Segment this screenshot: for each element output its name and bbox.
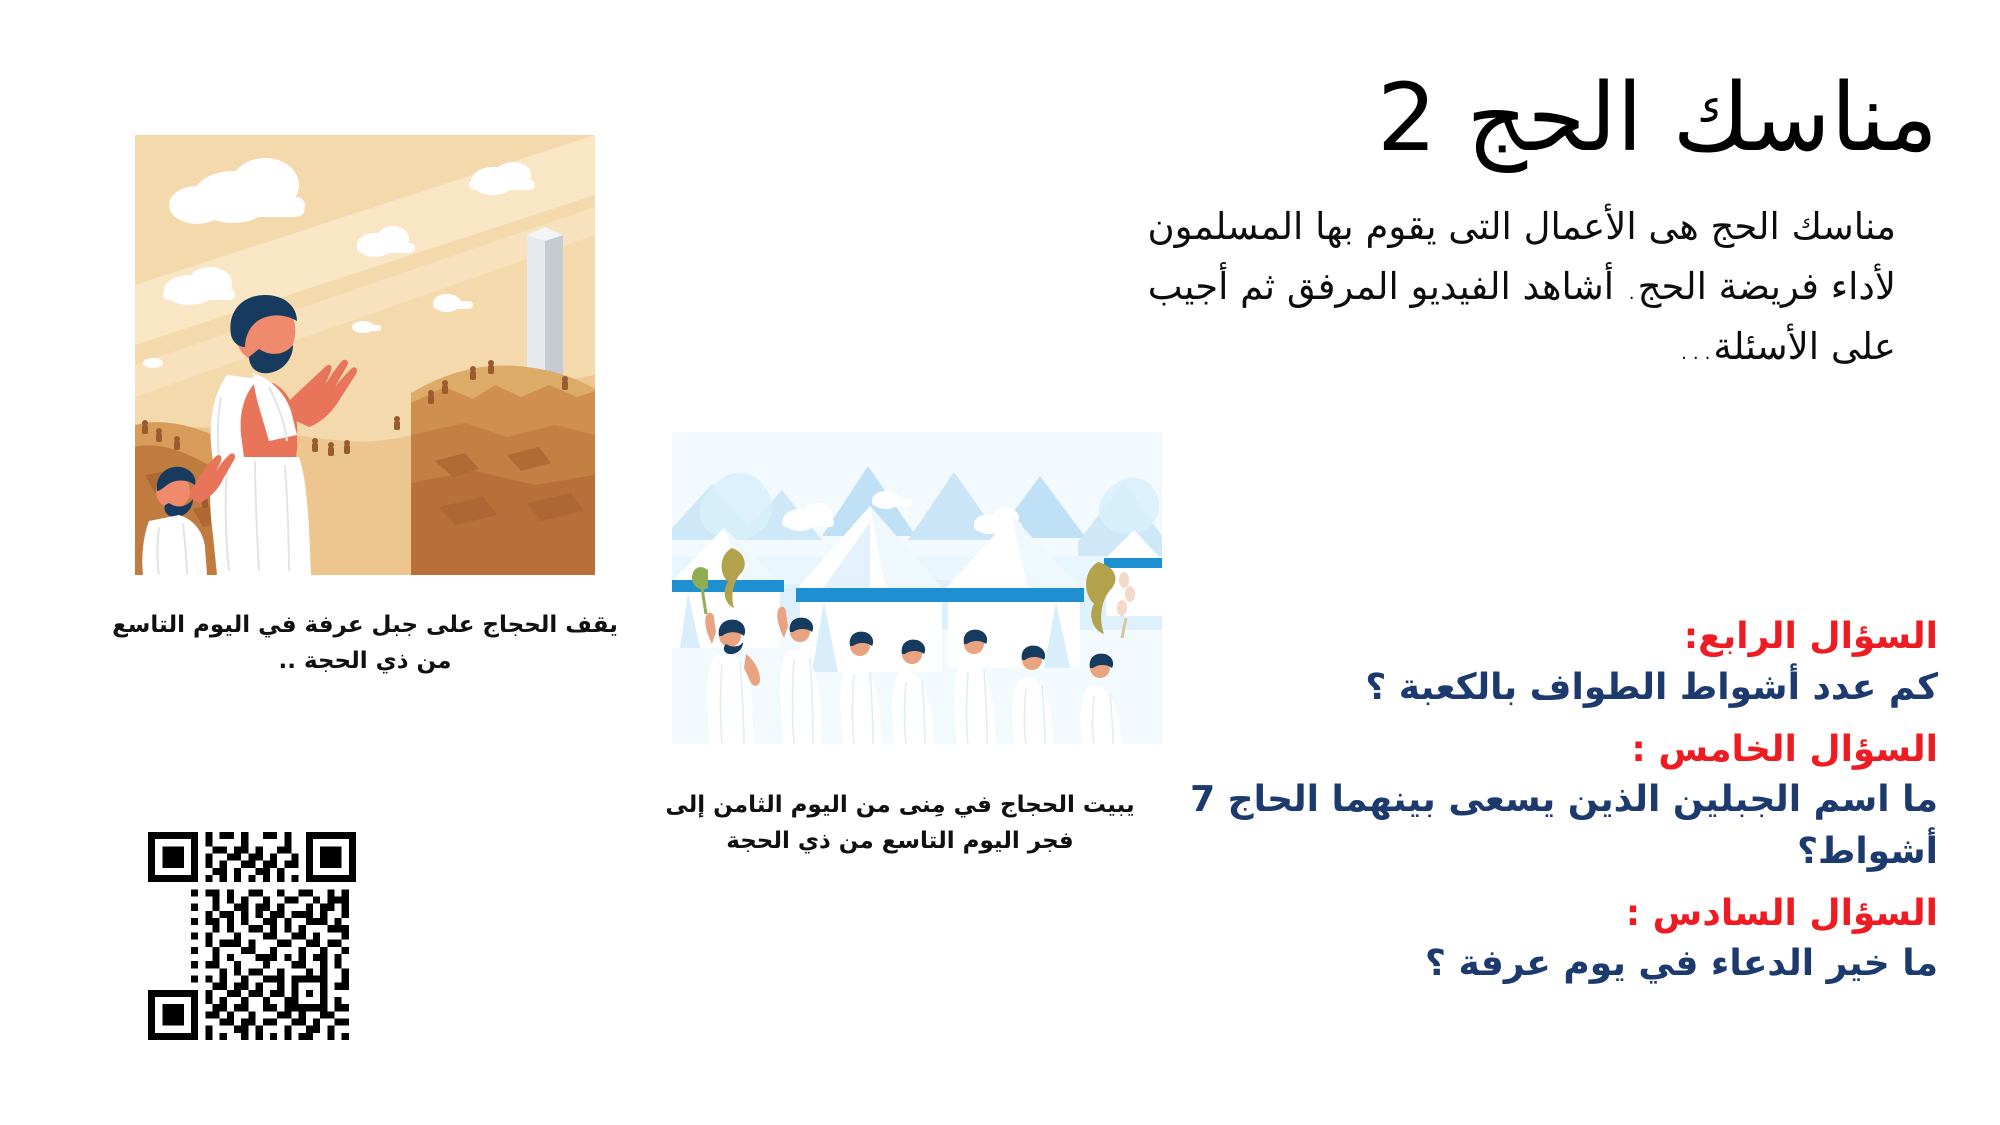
illustration-mina bbox=[672, 432, 1162, 744]
mina-scene-svg bbox=[672, 432, 1162, 744]
caption-arafat: يقف الحجاج على جبل عرفة في اليوم التاسع … bbox=[110, 608, 620, 679]
qr-code[interactable] bbox=[148, 832, 356, 1040]
question-text: ما خير الدعاء في يوم عرفة ؟ bbox=[1108, 938, 1938, 989]
question-item: السؤال الخامس : ما اسم الجبلين الذين يسع… bbox=[1108, 725, 1938, 877]
caption-mina: يبيت الحجاج في مِنى من اليوم الثامن إلى … bbox=[640, 788, 1160, 859]
question-text: كم عدد أشواط الطواف بالكعبة ؟ bbox=[1108, 662, 1938, 713]
question-item: السؤال الرابع: كم عدد أشواط الطواف بالكع… bbox=[1108, 612, 1938, 713]
question-item: السؤال السادس : ما خير الدعاء في يوم عرف… bbox=[1108, 889, 1938, 990]
illustration-arafat bbox=[135, 135, 595, 575]
arafat-scene-svg bbox=[135, 135, 595, 575]
intro-paragraph: مناسك الحج هى الأعمال التى يقوم بها المس… bbox=[1118, 197, 1938, 377]
cloud-icon bbox=[143, 358, 163, 368]
question-heading: السؤال الرابع: bbox=[1108, 612, 1938, 662]
qr-code-icon[interactable] bbox=[148, 832, 356, 1040]
question-heading: السؤال السادس : bbox=[1108, 889, 1938, 939]
question-heading: السؤال الخامس : bbox=[1108, 725, 1938, 775]
question-text: ما اسم الجبلين الذين يسعى بينهما الحاج 7… bbox=[1108, 774, 1938, 876]
header-block: مناسك الحج 2 مناسك الحج هى الأعمال التى … bbox=[1118, 66, 1938, 377]
rahmah-pillar-icon bbox=[527, 227, 563, 375]
page-title: مناسك الحج 2 bbox=[1118, 66, 1938, 171]
questions-block: السؤال الرابع: كم عدد أشواط الطواف بالكع… bbox=[1108, 612, 1938, 1001]
